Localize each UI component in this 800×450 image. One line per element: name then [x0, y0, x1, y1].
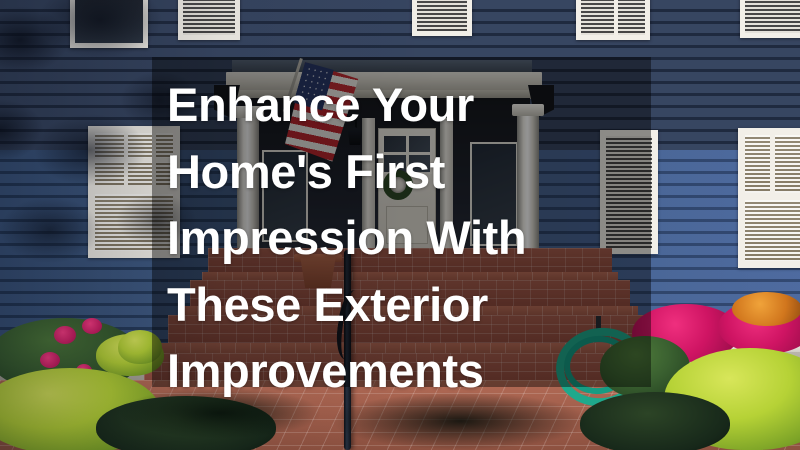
window-right-main	[738, 128, 800, 268]
window-upper-left	[70, 0, 148, 48]
flower-bed-right-orange	[732, 292, 800, 326]
flower-left-2	[82, 318, 102, 334]
window-upper-far-right	[740, 0, 800, 38]
shrub-left-lime-c	[118, 330, 162, 364]
window-upper-right	[576, 0, 650, 40]
window-upper-mid-left	[178, 0, 240, 40]
hero-banner: Enhance Your Home's First Impression Wit…	[0, 0, 800, 450]
page-title: Enhance Your Home's First Impression Wit…	[167, 72, 727, 405]
window-upper-mid	[412, 0, 472, 36]
flower-left-1	[54, 326, 76, 344]
flower-left-3	[40, 352, 60, 368]
